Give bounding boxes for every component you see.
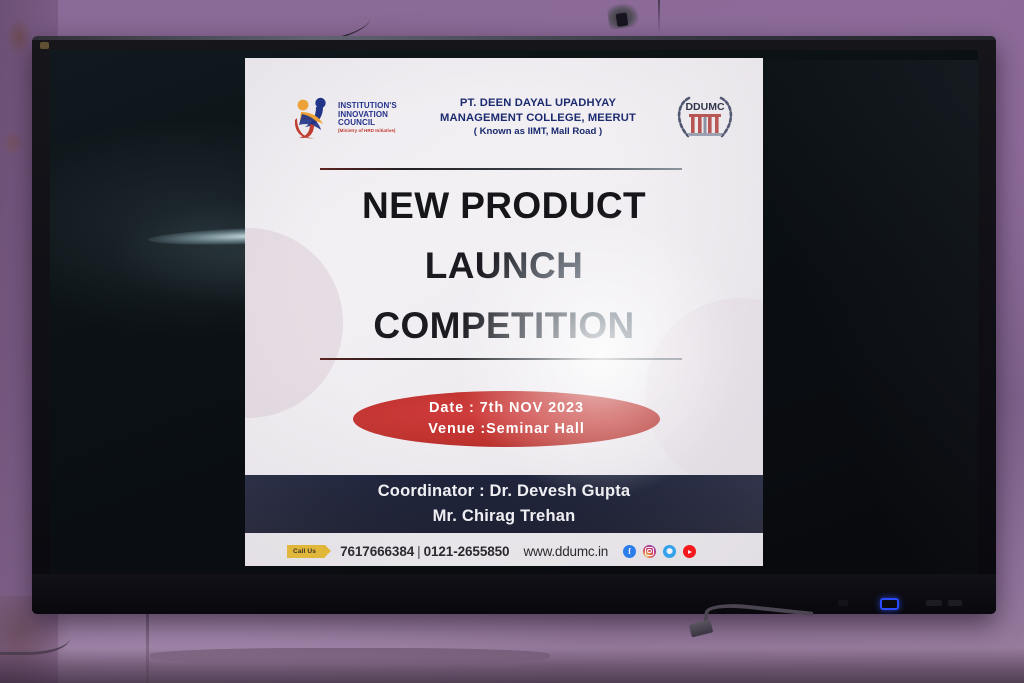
- bezel-marking: [838, 600, 848, 606]
- title-line-1: NEW PRODUCT: [245, 176, 763, 236]
- iic-emblem-icon: [293, 94, 333, 142]
- phone-numbers: 7617666384|0121-2655850: [340, 544, 509, 559]
- slide-title: NEW PRODUCT LAUNCH COMPETITION: [245, 176, 763, 356]
- college-line-2: MANAGEMENT COLLEGE, MEERUT: [407, 111, 669, 125]
- bezel-marking: [948, 600, 962, 606]
- website-url[interactable]: www.ddumc.in: [523, 544, 608, 559]
- wall-floor-shadow: [0, 648, 1024, 683]
- coordinator-line-1: Coordinator : Dr. Devesh Gupta: [378, 479, 631, 504]
- title-line-3: COMPETITION: [245, 296, 763, 356]
- coordinator-line-2: Mr. Chirag Trehan: [433, 504, 576, 529]
- display-top-edge: [32, 36, 996, 40]
- iic-logo-text: INSTITUTION'S INNOVATION COUNCIL (Minist…: [338, 102, 397, 133]
- photo-scene: INSTITUTION'S INNOVATION COUNCIL (Minist…: [0, 0, 1024, 683]
- twitter-glyph: ✺: [666, 548, 673, 556]
- svg-text:DDUMC: DDUMC: [685, 101, 724, 113]
- wall-mount-bracket: [606, 2, 639, 30]
- college-line-1: PT. DEEN DAYAL UPADHYAY: [407, 96, 669, 110]
- screen-sheen: [750, 60, 978, 574]
- cable-connector: [689, 620, 713, 638]
- phone-separator: |: [414, 544, 423, 559]
- cable-wire: [703, 600, 814, 641]
- phone-secondary: 0121-2655850: [424, 544, 510, 559]
- wall-crack: [658, 0, 660, 34]
- ddumc-logo-icon: DDUMC: [669, 90, 741, 146]
- display-bottom-bezel: [32, 574, 996, 614]
- iic-line-3: COUNCIL: [338, 119, 397, 127]
- hanging-hdmi-cable: [690, 606, 810, 640]
- title-line-2: LAUNCH: [245, 236, 763, 296]
- youtube-play-glyph: [688, 550, 692, 554]
- instagram-icon[interactable]: [643, 545, 656, 558]
- iic-ministry-subtitle: (Ministry of HRD Initiative): [338, 129, 397, 134]
- title-rule-bottom: [320, 358, 682, 360]
- wall-stain: [2, 130, 24, 156]
- phone-primary: 7617666384: [340, 544, 414, 559]
- bezel-marking: [926, 600, 942, 606]
- wall-stain: [6, 18, 32, 56]
- presentation-slide: INSTITUTION'S INNOVATION COUNCIL (Minist…: [245, 58, 763, 566]
- coordinator-bar: Coordinator : Dr. Devesh Gupta Mr. Chira…: [245, 475, 763, 533]
- event-venue: Venue :Seminar Hall: [428, 419, 585, 440]
- college-line-3: ( Known as IIMT, Mall Road ): [407, 125, 669, 139]
- call-us-badge: Call Us: [287, 545, 325, 558]
- event-date-venue-badge: Date : 7th NOV 2023 Venue :Seminar Hall: [353, 391, 660, 447]
- power-led-indicator: [880, 598, 899, 610]
- iic-logo: INSTITUTION'S INNOVATION COUNCIL (Minist…: [293, 90, 411, 146]
- title-rule-top: [320, 168, 682, 170]
- college-name-block: PT. DEEN DAYAL UPADHYAY MANAGEMENT COLLE…: [407, 96, 669, 139]
- slide-header: INSTITUTION'S INNOVATION COUNCIL (Minist…: [245, 84, 763, 152]
- event-date: Date : 7th NOV 2023: [429, 398, 584, 419]
- slide-footer: Call Us 7617666384|0121-2655850 www.ddum…: [245, 537, 763, 566]
- youtube-icon[interactable]: [683, 545, 696, 558]
- display-corner-screw: [40, 42, 49, 49]
- instagram-glyph: [645, 547, 654, 556]
- twitter-icon[interactable]: ✺: [663, 545, 676, 558]
- social-links: f ✺: [623, 545, 696, 558]
- facebook-icon[interactable]: f: [623, 545, 636, 558]
